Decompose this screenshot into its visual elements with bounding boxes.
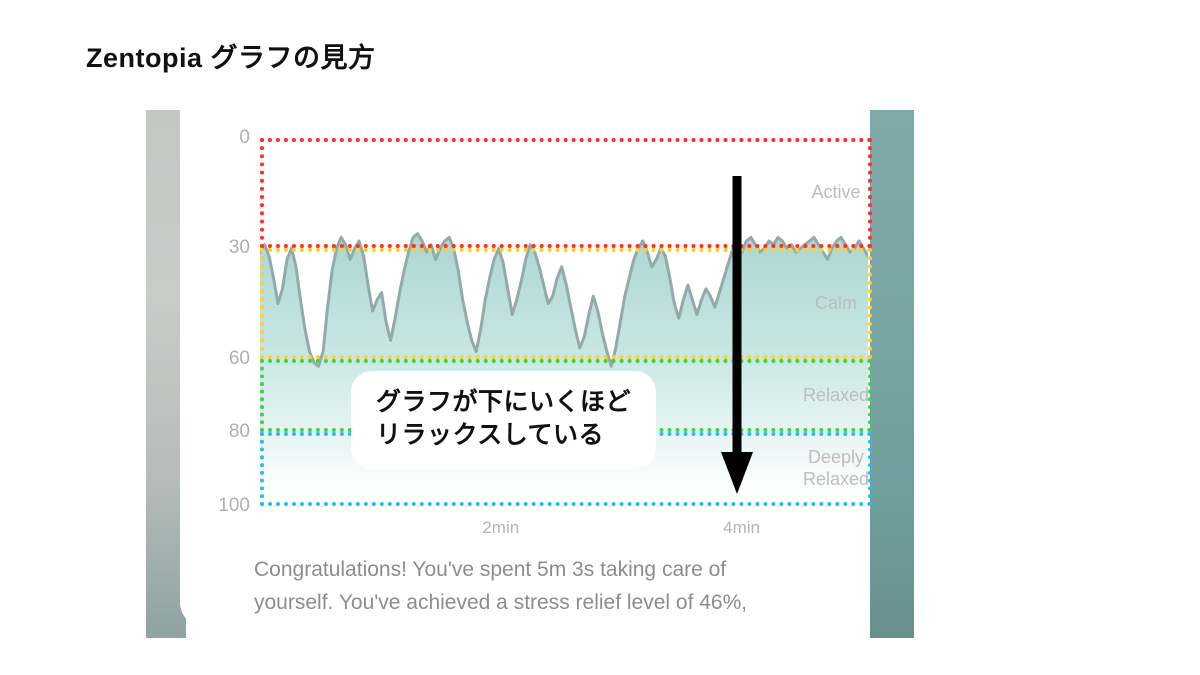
down-arrow-annotation [720, 176, 754, 494]
stress-chart: 0306080100 2min4min ActiveCalmRelaxedDee… [260, 128, 914, 528]
zone-label-deeply-relaxed: DeeplyRelaxed [776, 447, 896, 491]
callout-line-2: リラックスしている [376, 419, 631, 452]
relax-callout: グラフが下にいくほど リラックスしている [356, 376, 651, 464]
y-tick-label: 60 [229, 348, 250, 370]
summary-line-1: Congratulations! You've spent 5m 3s taki… [254, 554, 864, 587]
zone-label-active: Active [776, 182, 896, 204]
zone-label-calm: Calm [776, 293, 896, 315]
session-result-card: 0306080100 2min4min ActiveCalmRelaxedDee… [180, 110, 870, 628]
session-summary-text: Congratulations! You've spent 5m 3s taki… [254, 554, 864, 619]
y-tick-label: 0 [239, 127, 250, 149]
zone-label-relaxed: Relaxed [776, 385, 896, 407]
page-title: Zentopia グラフの見方 [86, 36, 376, 75]
summary-line-2: yourself. You've achieved a stress relie… [254, 587, 864, 620]
y-tick-label: 30 [229, 237, 250, 259]
phone-screenshot-frame: 0306080100 2min4min ActiveCalmRelaxedDee… [146, 110, 914, 638]
callout-line-1: グラフが下にいくほど [376, 386, 631, 419]
y-tick-label: 100 [218, 495, 250, 517]
y-tick-label: 80 [229, 421, 250, 443]
